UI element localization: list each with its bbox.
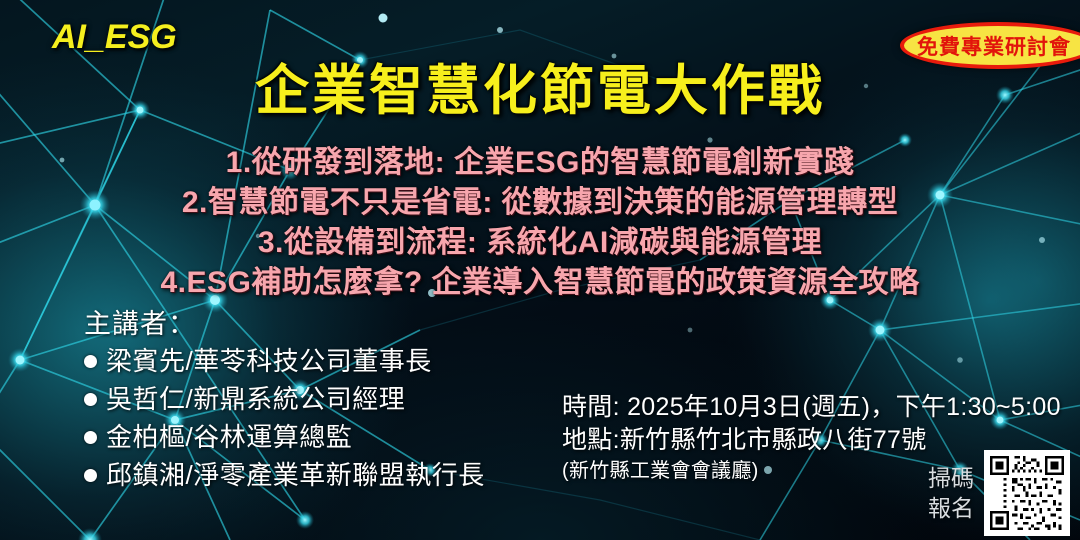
topic-item: 2.智慧節電不只是省電: 從數據到決策的能源管理轉型: [0, 183, 1080, 223]
qr-label-line1: 掃碼: [928, 463, 974, 493]
speakers-section: 主講者： 梁賓先/華苓科技公司董事長 吳哲仁/新鼎系統公司經理 金柏樞/谷林運算…: [84, 306, 485, 494]
speaker-name: 梁賓先/華苓科技公司董事長: [106, 342, 432, 380]
qr-label-line2: 報名: [928, 493, 974, 523]
bullet-icon: [84, 431, 97, 444]
speaker-name: 吳哲仁/新鼎系統公司經理: [106, 380, 405, 418]
topic-list: 1.從研發到落地: 企業ESG的智慧節電創新實踐 2.智慧節電不只是省電: 從數…: [0, 143, 1080, 303]
speaker-name: 金柏樞/谷林運算總監: [106, 418, 352, 456]
speaker-name: 邱鎮湘/淨零產業革新聯盟執行長: [106, 456, 485, 494]
qr-label: 掃碼 報名: [928, 463, 974, 523]
speaker-list-item: 金柏樞/谷林運算總監: [84, 418, 485, 456]
speaker-list-item: 吳哲仁/新鼎系統公司經理: [84, 380, 485, 418]
qr-code-icon[interactable]: [984, 450, 1070, 536]
bullet-icon: [84, 469, 97, 482]
bullet-icon: [84, 393, 97, 406]
speakers-heading: 主講者：: [84, 306, 485, 342]
seminar-poster: AI_ESG 免費專業研討會 企業智慧化節電大作戰 1.從研發到落地: 企業ES…: [0, 0, 1080, 540]
speaker-list-item: 邱鎮湘/淨零產業革新聯盟執行長: [84, 456, 485, 494]
event-time: 時間: 2025年10月3日(週五)，下午1:30~5:00: [562, 391, 1061, 424]
poster-title: 企業智慧化節電大作戰: [0, 46, 1080, 125]
topic-item: 4.ESG補助怎麼拿? 企業導入智慧節電的政策資源全攻略: [0, 263, 1080, 303]
topic-item: 3.從設備到流程: 系統化AI減碳與能源管理: [0, 223, 1080, 263]
topic-item: 1.從研發到落地: 企業ESG的智慧節電創新實踐: [0, 143, 1080, 183]
bullet-icon: [84, 355, 97, 368]
speaker-list-item: 梁賓先/華苓科技公司董事長: [84, 342, 485, 380]
qr-registration-block: 掃碼 報名: [928, 450, 1070, 536]
